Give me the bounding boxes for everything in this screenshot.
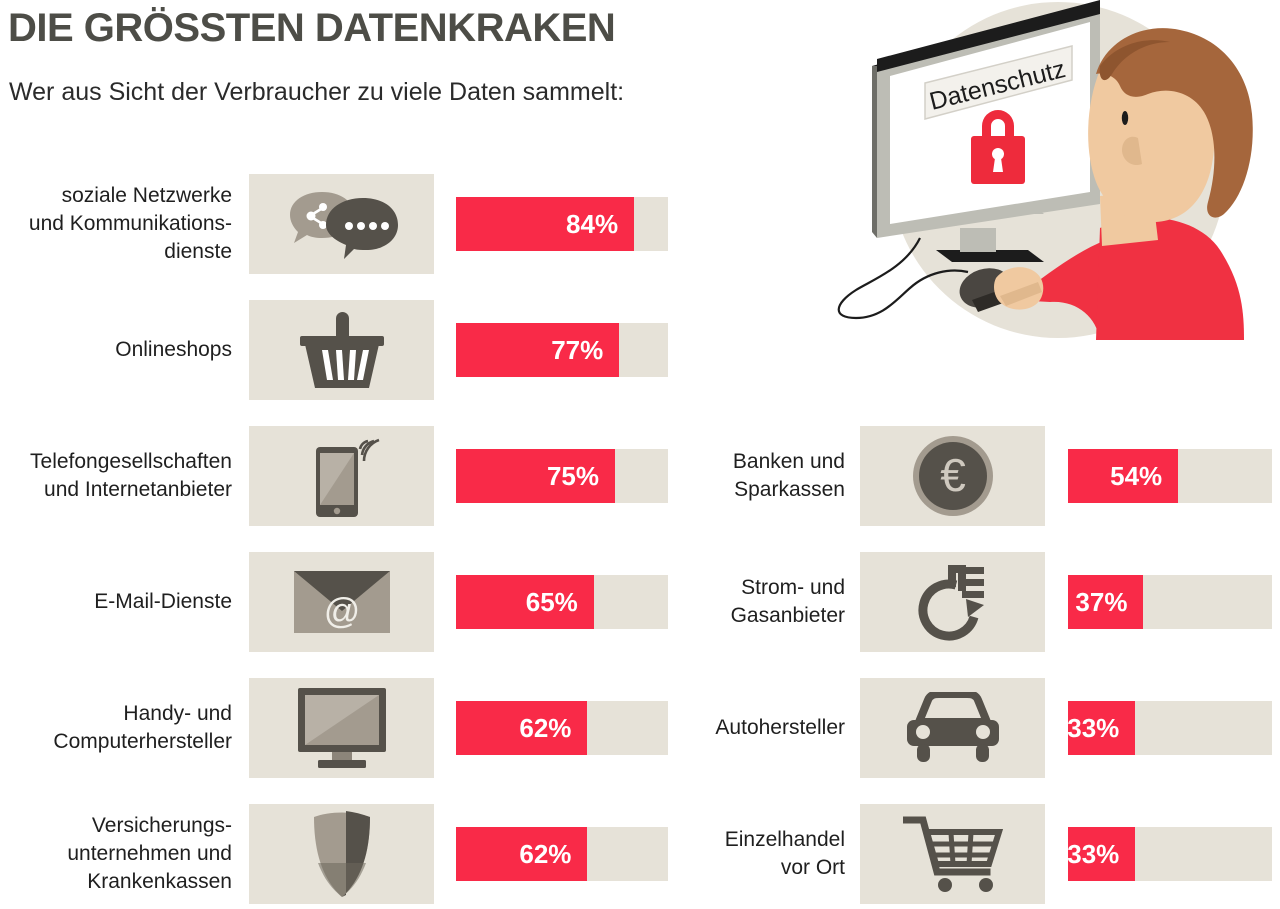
- svg-text:€: €: [940, 449, 966, 501]
- chart-row: Strom- und Gasanbieter 37%: [0, 552, 1280, 652]
- bar-value: 84%: [566, 209, 634, 240]
- bar-fill: 77%: [456, 323, 619, 377]
- shopping-basket-icon: [249, 300, 434, 400]
- car-icon: [860, 678, 1045, 778]
- chart-row: soziale Netzwerke und Kommunikations- di…: [0, 174, 700, 274]
- bar-fill: 33%: [1068, 701, 1135, 755]
- euro-coin-icon: €: [860, 426, 1045, 526]
- chart-row: Banken und Sparkassen € 54%: [0, 426, 1280, 526]
- row-label: Onlineshops: [0, 336, 232, 364]
- shopping-cart-icon: [860, 804, 1045, 904]
- bar-track: 84%: [456, 197, 668, 251]
- bar-fill: 37%: [1068, 575, 1143, 629]
- bar-value: 33%: [1067, 839, 1135, 870]
- bar-track: 37%: [1068, 575, 1272, 629]
- bar-fill: 84%: [456, 197, 634, 251]
- row-label: Strom- und Gasanbieter: [660, 574, 845, 630]
- bar-value: 54%: [1110, 461, 1178, 492]
- power-plug-icon: [860, 552, 1045, 652]
- speech-bubbles-icon: [249, 174, 434, 274]
- bar-track: 77%: [456, 323, 668, 377]
- row-label: soziale Netzwerke und Kommunikations- di…: [0, 182, 232, 266]
- bar-track: 54%: [1068, 449, 1272, 503]
- row-label: Banken und Sparkassen: [660, 448, 845, 504]
- chart-row: Einzelhandel vor Ort 33%: [0, 804, 1280, 904]
- chart-row: Autohersteller 33%: [0, 678, 1280, 778]
- row-label: Einzelhandel vor Ort: [660, 826, 845, 882]
- bar-track: 33%: [1068, 827, 1272, 881]
- bar-track: 33%: [1068, 701, 1272, 755]
- eye: [1122, 111, 1128, 125]
- bar-fill: 54%: [1068, 449, 1178, 503]
- page-subtitle: Wer aus Sicht der Verbraucher zu viele D…: [9, 78, 624, 107]
- bar-value: 77%: [551, 335, 619, 366]
- person-at-computer-illustration: Datenschutz: [800, 0, 1280, 340]
- row-label: Autohersteller: [660, 714, 845, 742]
- hero-illustration: Datenschutz: [800, 0, 1280, 340]
- bar-value: 37%: [1075, 587, 1143, 618]
- chart-row: Onlineshops 77%: [0, 300, 700, 400]
- bar-value: 33%: [1067, 713, 1135, 744]
- bar-fill: 33%: [1068, 827, 1135, 881]
- page-title: DIE GRÖSSTEN DATENKRAKEN: [8, 6, 615, 51]
